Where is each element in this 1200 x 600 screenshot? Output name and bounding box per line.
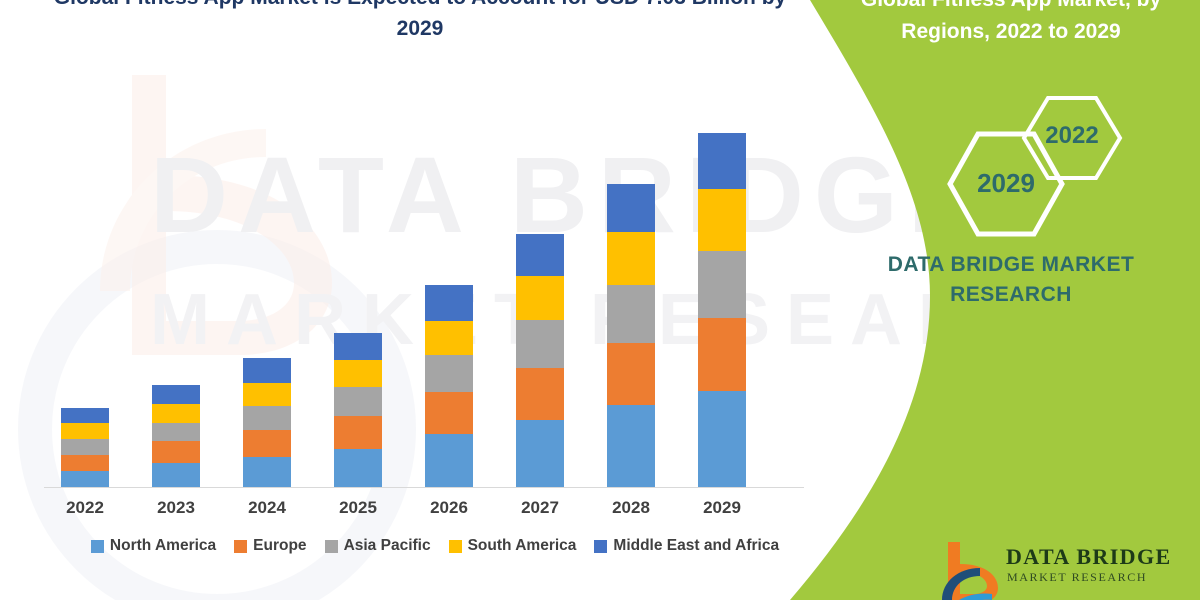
legend-label: Middle East and Africa	[613, 537, 779, 555]
brand-research-name: DATA BRIDGE MARKET RESEARCH	[836, 250, 1186, 310]
x-axis-tick-label: 2023	[131, 498, 221, 518]
bar-segment	[425, 392, 473, 434]
x-axis-tick-label: 2024	[222, 498, 312, 518]
bar-segment	[61, 471, 109, 487]
legend-label: South America	[468, 537, 577, 555]
x-axis-tick-label: 2026	[404, 498, 494, 518]
bar-column	[698, 133, 746, 487]
bar-segment	[152, 441, 200, 463]
bar-segment	[243, 430, 291, 457]
bar-column	[243, 358, 291, 487]
bar-column	[516, 234, 564, 487]
bar-segment	[425, 321, 473, 355]
panel-title: Global Fitness App Market, by Regions, 2…	[836, 0, 1186, 48]
legend-swatch-icon	[234, 540, 247, 553]
chart-title: Global Fitness App Market is Expected to…	[40, 0, 800, 44]
bar-segment	[61, 455, 109, 471]
bar-column	[334, 333, 382, 487]
bar-segment	[152, 463, 200, 487]
brand-line-2: RESEARCH	[836, 280, 1186, 310]
bar-segment	[334, 416, 382, 449]
bar-column	[61, 408, 109, 487]
bar-segment	[698, 318, 746, 391]
brand-line-1: DATA BRIDGE MARKET	[836, 250, 1186, 280]
bar-segment	[425, 434, 473, 487]
bar-segment	[334, 360, 382, 387]
bar-segment	[152, 423, 200, 441]
legend-swatch-icon	[594, 540, 607, 553]
panel-title-line1: Global Fitness App Market, by	[836, 0, 1186, 16]
bar-segment	[698, 251, 746, 318]
bar-segment	[607, 285, 655, 343]
bar-column	[607, 184, 655, 487]
legend-item[interactable]: Asia Pacific	[325, 537, 431, 555]
bar-segment	[425, 355, 473, 392]
bar-segment	[152, 385, 200, 404]
legend-item[interactable]: Middle East and Africa	[594, 537, 779, 555]
x-axis-tick-label: 2029	[677, 498, 767, 518]
bar-segment	[516, 234, 564, 276]
bar-segment	[698, 391, 746, 487]
bar-segment	[334, 449, 382, 487]
company-logo: DATA BRIDGE MARKET RESEARCH	[934, 538, 1184, 600]
legend-item[interactable]: Europe	[234, 537, 306, 555]
legend-label: Asia Pacific	[344, 537, 431, 555]
bar-segment	[61, 439, 109, 455]
hexagon-group: 2022 2029	[780, 92, 1200, 242]
bar-segment	[243, 457, 291, 487]
bar-segment	[607, 184, 655, 232]
bar-segment	[334, 387, 382, 416]
logo-company-name: DATA BRIDGE	[1006, 544, 1172, 570]
bar-segment	[152, 404, 200, 423]
bar-segment	[516, 276, 564, 320]
panel-title-line2: Regions, 2022 to 2029	[836, 16, 1186, 48]
data-bridge-b-mark-icon	[934, 538, 1004, 600]
bar-segment	[516, 368, 564, 420]
bar-segment	[516, 420, 564, 487]
infographic-canvas: DATA BRIDGE MARKET RESEARCH Global Fitne…	[0, 0, 1200, 600]
bar-segment	[61, 423, 109, 439]
legend-swatch-icon	[325, 540, 338, 553]
bar-segment	[607, 343, 655, 405]
x-axis-tick-label: 2022	[40, 498, 130, 518]
stacked-bar-chart	[40, 60, 830, 487]
bar-segment	[61, 408, 109, 423]
legend-swatch-icon	[449, 540, 462, 553]
bar-segment	[334, 333, 382, 360]
bar-segment	[243, 383, 291, 406]
bar-segment	[607, 405, 655, 487]
bar-segment	[243, 406, 291, 430]
bar-column	[152, 385, 200, 487]
bar-segment	[607, 232, 655, 285]
hexagon-shapes-icon	[780, 92, 1200, 242]
x-axis-tick-label: 2027	[495, 498, 585, 518]
bar-segment	[698, 133, 746, 189]
x-axis-tick-label: 2025	[313, 498, 403, 518]
x-axis-tick-label: 2028	[586, 498, 676, 518]
logo-tagline: MARKET RESEARCH	[1007, 570, 1147, 585]
x-axis-labels: 20222023202420252026202720282029	[40, 498, 830, 524]
bar-segment	[698, 189, 746, 251]
chart-baseline	[44, 487, 804, 488]
bar-column	[425, 285, 473, 487]
bar-segment	[243, 358, 291, 383]
chart-legend: North AmericaEuropeAsia PacificSouth Ame…	[40, 537, 830, 555]
hexagon-label-2022: 2022	[1024, 122, 1120, 150]
legend-swatch-icon	[91, 540, 104, 553]
legend-item[interactable]: North America	[91, 537, 216, 555]
legend-item[interactable]: South America	[449, 537, 577, 555]
bar-segment	[516, 320, 564, 368]
bar-segment	[425, 285, 473, 321]
legend-label: Europe	[253, 537, 306, 555]
hexagon-label-2029: 2029	[950, 168, 1062, 199]
legend-label: North America	[110, 537, 216, 555]
